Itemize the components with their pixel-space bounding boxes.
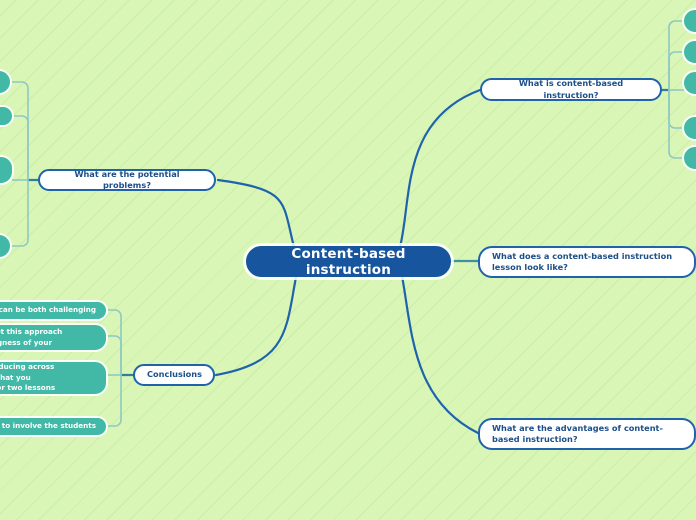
connector-problems-child-1 <box>10 82 28 180</box>
root-node-label: Content-based instruction <box>264 246 433 278</box>
connector-conclusions-child-4 <box>106 375 121 426</box>
branch-node-advantages[interactable]: What are the advantages of content- base… <box>478 418 696 450</box>
branch-node-conclusions[interactable]: Conclusions <box>133 364 215 386</box>
connector-problems-child-4 <box>10 180 28 246</box>
connector-conclusions-child-2 <box>106 336 121 375</box>
leaf-node-problems-1[interactable] <box>0 71 10 93</box>
leaf-label-conclusions-2: ou adopt this approach e willingness of … <box>0 327 96 348</box>
connector-root-to-what-is <box>400 90 480 247</box>
leaf-label-conclusions-1: CBI can be both challenging <box>0 305 96 315</box>
leaf-label-conclusions-3: er introducing across ething that you or… <box>0 362 96 393</box>
leaf-node-what-is-1[interactable] <box>684 10 696 32</box>
branch-node-what-is[interactable]: What is content-based instruction? <box>480 78 662 101</box>
leaf-node-conclusions-4[interactable]: Try to involve the students <box>0 418 106 435</box>
root-node[interactable]: Content-based instruction <box>246 246 451 277</box>
leaf-node-conclusions-3[interactable]: er introducing across ething that you or… <box>0 362 106 394</box>
branch-label-what-is: What is content-based instruction? <box>494 78 648 100</box>
branch-label-lesson-look-like: What does a content-based instruction le… <box>492 251 682 273</box>
branch-label-advantages: What are the advantages of content- base… <box>492 423 682 445</box>
connector-root-to-problems <box>218 180 294 247</box>
connector-root-to-advantages <box>402 276 478 433</box>
leaf-node-what-is-3[interactable] <box>684 72 696 94</box>
leaf-node-what-is-2[interactable] <box>684 41 696 63</box>
connector-conclusions-child-1 <box>106 310 121 375</box>
leaf-node-what-is-5[interactable] <box>684 147 696 169</box>
branch-node-lesson-look-like[interactable]: What does a content-based instruction le… <box>478 246 696 278</box>
branch-label-conclusions: Conclusions <box>147 369 201 380</box>
leaf-node-conclusions-1[interactable]: CBI can be both challenging <box>0 302 106 319</box>
leaf-node-problems-4[interactable] <box>0 235 10 257</box>
connector-problems-child-2 <box>12 116 28 180</box>
connector-what-is-child-2 <box>669 52 684 90</box>
branch-label-potential-problems: What are the potential problems? <box>52 169 202 191</box>
connector-what-is-child-1 <box>669 21 684 90</box>
branch-node-potential-problems[interactable]: What are the potential problems? <box>38 169 216 191</box>
connector-what-is-child-4 <box>669 90 684 128</box>
leaf-label-conclusions-4: Try to involve the students <box>0 421 96 431</box>
leaf-node-what-is-4[interactable] <box>684 117 696 139</box>
connector-what-is-child-5 <box>669 90 684 158</box>
leaf-node-problems-2[interactable] <box>0 107 12 125</box>
mindmap-canvas[interactable]: Content-based instruction What is conten… <box>0 0 696 520</box>
leaf-node-problems-3[interactable] <box>0 157 12 183</box>
connector-root-to-conclusions <box>216 277 296 375</box>
leaf-node-conclusions-2[interactable]: ou adopt this approach e willingness of … <box>0 325 106 350</box>
